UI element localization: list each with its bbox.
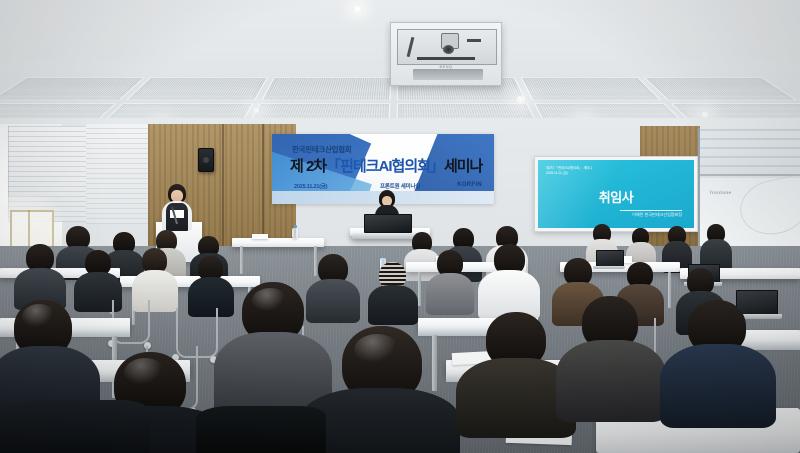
- foreground-attendee: [196, 406, 326, 453]
- seminar-photo: BENQ 한국핀테크산업협회 제 2차「핀테크AI협의회」세미나 2025.11…: [0, 0, 800, 453]
- banner-title: 제 2차「핀테크AI협의회」세미나: [290, 155, 482, 176]
- banner-place: 프론트원 세미나실: [380, 182, 420, 190]
- foreground-attendee: [0, 400, 150, 453]
- projector-lens-icon: [443, 45, 454, 54]
- audience-member: [368, 262, 418, 322]
- slide-subtitle: 이해민 한국핀테크산업협회장: [632, 212, 682, 218]
- banner-title-suffix: 세미나: [444, 158, 482, 175]
- audience-member: [132, 248, 178, 308]
- foreground-attendee: [556, 296, 666, 418]
- glass-reflection: [700, 128, 800, 176]
- banner-title-highlight: 「핀테크AI협의회」: [326, 158, 444, 175]
- audience-member: [14, 244, 66, 306]
- projector-brand-label: BENQ: [391, 64, 501, 69]
- slide-header-line2: 2025.11.21 (금): [546, 171, 592, 176]
- projection-screen: 제2차 「핀테크AI협의회」 세미나 2025.11.21 (금) 취임사 이해…: [534, 156, 698, 232]
- banner-title-prefix: 제 2차: [290, 158, 326, 175]
- slide-header: 제2차 「핀테크AI협의회」 세미나 2025.11.21 (금): [546, 166, 592, 176]
- desk-papers: [252, 234, 268, 239]
- foreground-attendee: [660, 300, 776, 422]
- podium-speaker: [160, 186, 194, 232]
- audience-member: [478, 244, 540, 316]
- ceiling-downlight: [352, 6, 363, 12]
- desk-leg: [418, 272, 421, 306]
- water-bottle: [292, 228, 298, 239]
- window-blind: [86, 124, 148, 224]
- banner-association-name: 한국핀테크산업협회: [292, 144, 351, 155]
- projector-rail: [417, 57, 475, 60]
- front-desk: [232, 238, 324, 247]
- glass-partition-logo: frontone: [710, 190, 731, 195]
- banner-logo: KORFIN: [457, 182, 482, 188]
- slide-title: 취임사: [538, 187, 694, 206]
- presentation-slide: 제2차 「핀테크AI협의회」 세미나 2025.11.21 (금) 취임사 이해…: [538, 160, 694, 228]
- audience-member: [426, 250, 474, 312]
- slide-divider: [620, 210, 682, 211]
- projector-shelf: [413, 69, 483, 80]
- ceiling-projector-housing: BENQ: [390, 22, 502, 86]
- wall-speaker-icon: [198, 148, 214, 172]
- projector-bracket: [467, 39, 481, 42]
- banner-date: 2025.11.21(금): [294, 182, 327, 190]
- glass-frame-rail: [700, 174, 800, 176]
- desk-leg: [240, 246, 243, 274]
